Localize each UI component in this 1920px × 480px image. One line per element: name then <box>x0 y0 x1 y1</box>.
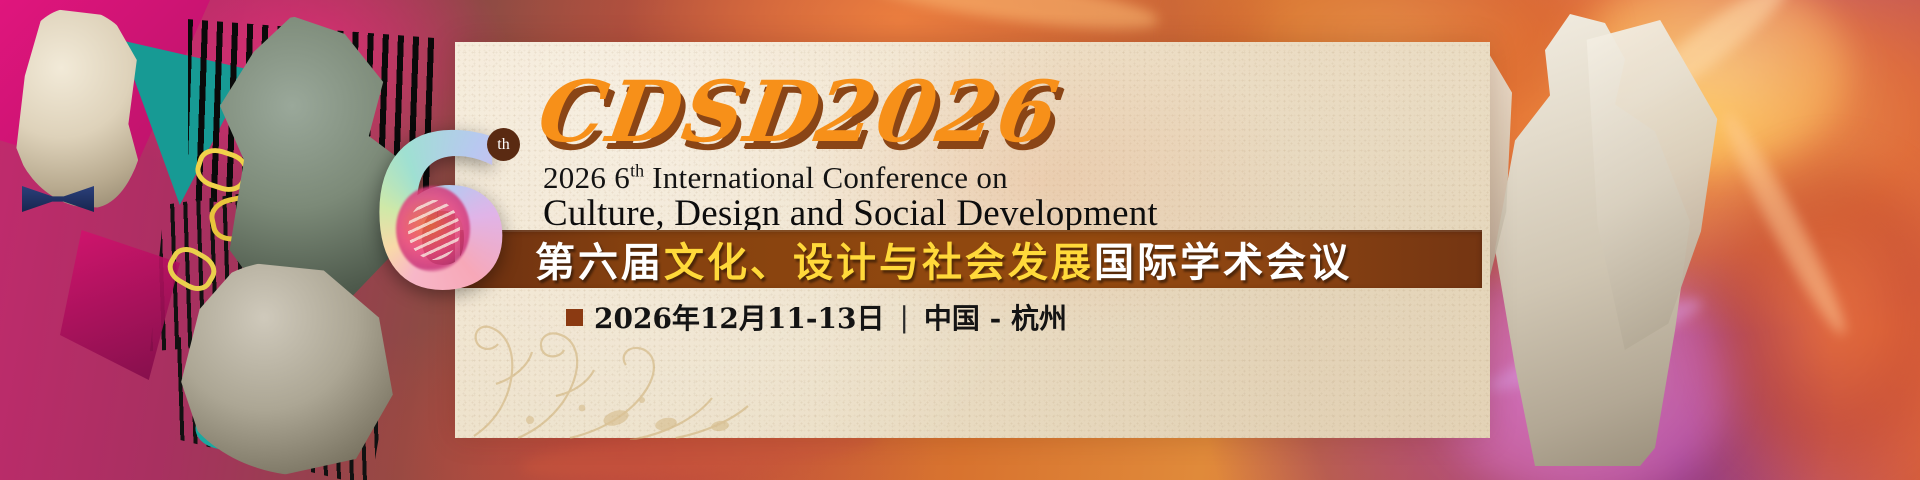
conference-date: 2026年12月11-13日 <box>594 297 884 337</box>
chinese-title-part2: 文化、设计与社会发展 <box>664 240 1094 286</box>
conference-location: 中国 - 杭州 <box>924 297 1067 337</box>
english-line1-prefix: 2026 6 <box>543 160 630 195</box>
chinese-title-part1: 第六届 <box>535 240 664 286</box>
conference-acronym: CDSD <box>533 70 828 154</box>
conference-year: 2026 <box>810 70 1065 154</box>
date-location-line: 2026年12月11-13日 | 中国 - 杭州 <box>566 297 1067 337</box>
date-location-separator: | <box>895 301 912 334</box>
english-line1-ordinal: th <box>630 161 644 181</box>
ordinal-th-badge: th <box>487 128 520 161</box>
english-subtitle-line1: 2026 6th International Conference on <box>543 160 1008 196</box>
square-bullet-icon <box>566 309 583 326</box>
english-title-line2: Culture, Design and Social Development <box>543 192 1158 235</box>
conference-banner: CDSD 2026 2026 6th International Confere… <box>0 0 1920 480</box>
chinese-title: 第六届文化、设计与社会发展国际学术会议 <box>535 230 1352 288</box>
english-line1-suffix: International Conference on <box>644 160 1008 195</box>
chinese-title-part3: 国际学术会议 <box>1094 240 1352 286</box>
logo-row: CDSD 2026 <box>540 70 1060 170</box>
six-inner-pattern <box>408 200 460 260</box>
chinese-title-strip: 第六届文化、设计与社会发展国际学术会议 <box>460 230 1482 288</box>
